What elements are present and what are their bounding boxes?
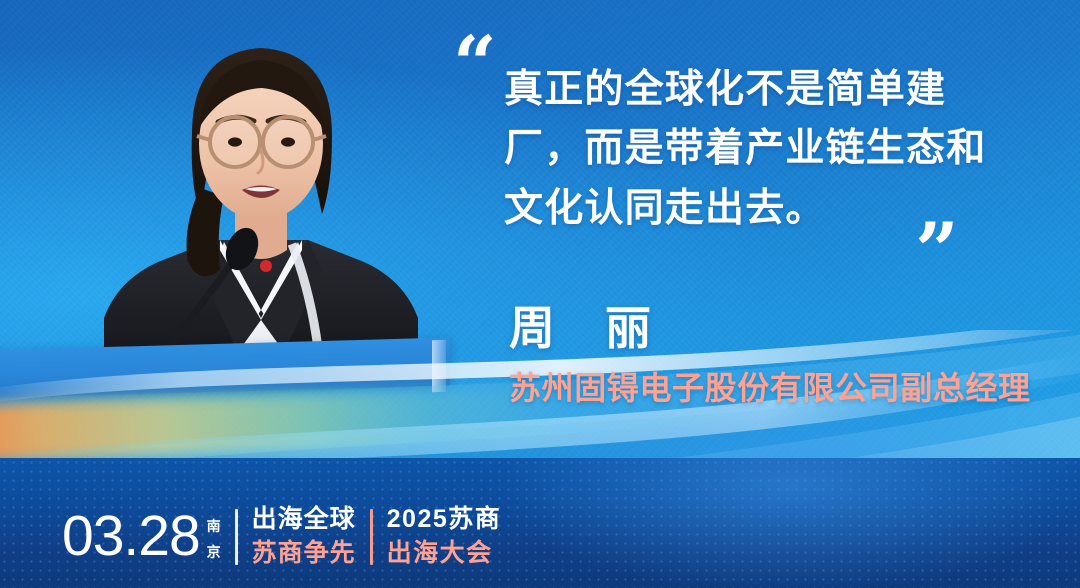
quote-text: 真正的全球化不是简单建 厂，而是带着产业链生态和 文化认同走出去。 — [504, 60, 1064, 238]
quote-line-2: 厂，而是带着产业链生态和 — [504, 119, 1064, 178]
quote-card: “ ” 真正的全球化不是简单建 厂，而是带着产业链生态和 文化认同走出去。 周 … — [0, 0, 1080, 588]
event-date: 03.28 — [62, 508, 200, 565]
event-slogan-line-2: 苏商争先 — [252, 541, 356, 566]
quote-line-3: 文化认同走出去。 — [504, 179, 1064, 238]
event-city-char-2: 京 — [207, 545, 221, 559]
speaker-name: 周 丽 — [509, 292, 653, 358]
event-city-char-1: 南 — [207, 519, 221, 533]
footer-glow — [440, 398, 1080, 588]
lockup-divider-2 — [370, 509, 373, 565]
event-city: 南 京 — [207, 512, 221, 566]
speaker-photo — [96, 18, 426, 380]
event-slogan: 出海全球 苏商争先 — [252, 507, 356, 566]
event-name: 2025苏商 出海大会 — [387, 507, 502, 566]
quote-open-mark: “ — [453, 26, 495, 102]
event-name-line-2: 出海大会 — [387, 541, 502, 566]
quote-line-1: 真正的全球化不是简单建 — [504, 60, 1064, 119]
event-slogan-line-1: 出海全球 — [252, 507, 356, 532]
event-name-line-1: 2025苏商 — [387, 507, 502, 532]
speaker-title: 苏州固锝电子股份有限公司副总经理 — [509, 363, 1031, 409]
lockup-divider-1 — [235, 509, 238, 565]
event-lockup: 03.28 南 京 出海全球 苏商争先 2025苏商 出海大会 — [62, 507, 501, 566]
